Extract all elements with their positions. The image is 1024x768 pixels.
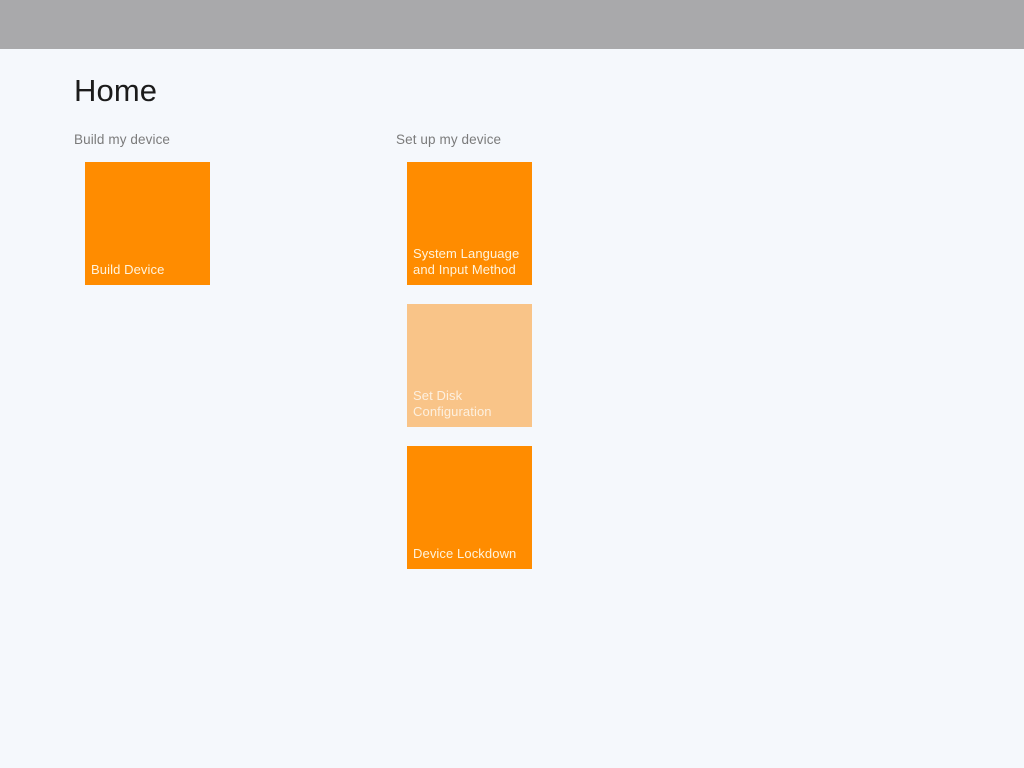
tile-device-lockdown[interactable]: Device Lockdown <box>407 446 532 569</box>
tile-build-device[interactable]: Build Device <box>85 162 210 285</box>
tile-set-disk-configuration[interactable]: Set Disk Configuration <box>407 304 532 427</box>
app-root: Home Build my device Build Device Set up… <box>0 0 1024 768</box>
tile-group-build-my-device: Build my device Build Device <box>74 132 210 285</box>
tile-label-system-language-and-input-method: System Language and Input Method <box>413 246 528 278</box>
tile-stack-build-my-device: Build Device <box>74 162 210 285</box>
page-title: Home <box>74 75 157 106</box>
group-label-build-my-device: Build my device <box>74 132 210 148</box>
tile-label-device-lockdown: Device Lockdown <box>413 546 528 562</box>
group-label-set-up-my-device: Set up my device <box>396 132 532 148</box>
tile-label-set-disk-configuration: Set Disk Configuration <box>413 388 528 420</box>
tile-label-build-device: Build Device <box>91 262 206 278</box>
tile-group-set-up-my-device: Set up my device System Language and Inp… <box>396 132 532 569</box>
title-bar <box>0 0 1024 49</box>
page-body: Home Build my device Build Device Set up… <box>0 49 1024 768</box>
tile-stack-set-up-my-device: System Language and Input Method Set Dis… <box>396 162 532 569</box>
tile-system-language-and-input-method[interactable]: System Language and Input Method <box>407 162 532 285</box>
